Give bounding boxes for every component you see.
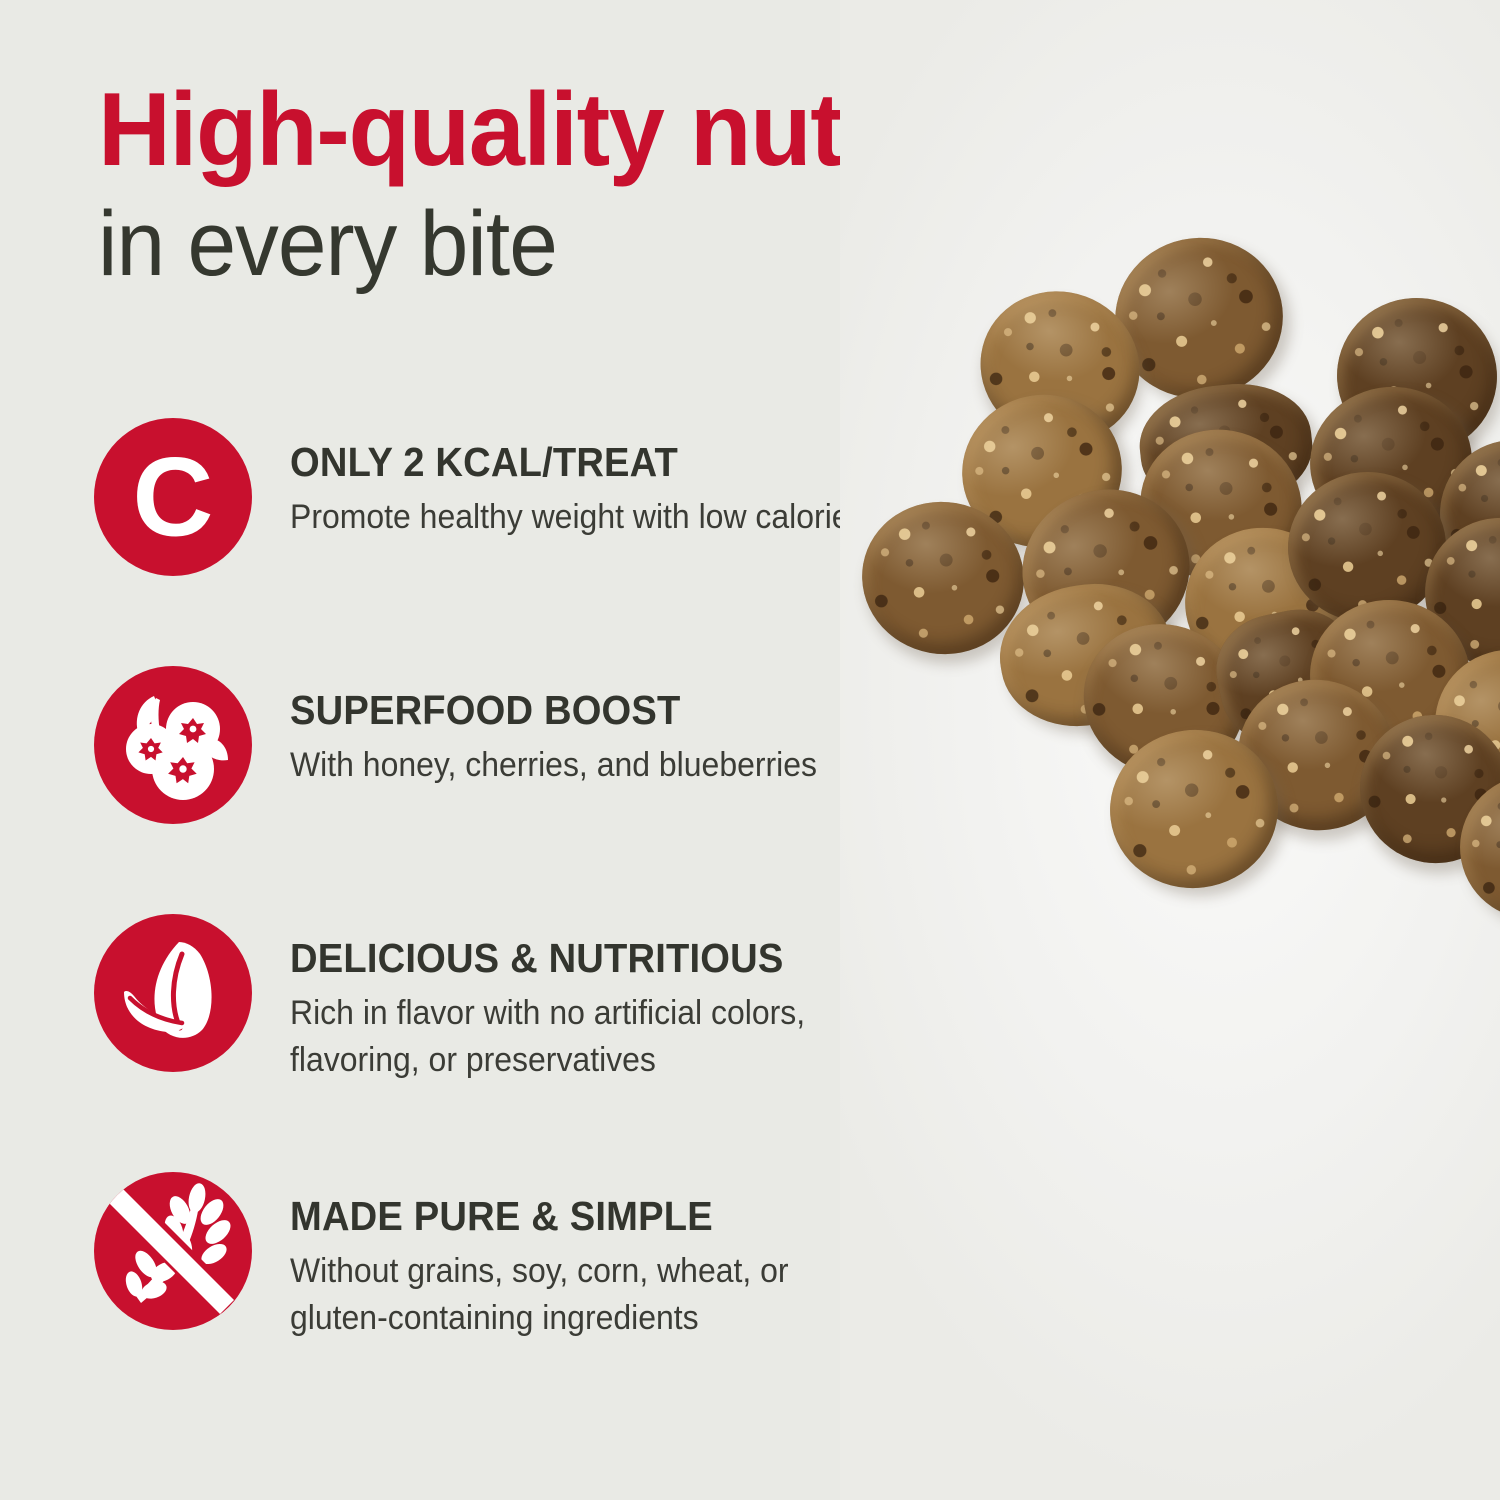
feature-description-line: flavoring, or preservatives bbox=[290, 1037, 886, 1084]
feature-description: Rich in flavor with no artificial colors… bbox=[290, 990, 886, 1084]
feature-title: DELICIOUS & NUTRITIOUS bbox=[290, 936, 880, 980]
svg-text:C: C bbox=[133, 435, 214, 560]
berries-icon bbox=[94, 666, 252, 824]
feature-description-line: Without grains, soy, corn, wheat, or bbox=[290, 1248, 886, 1295]
feature-description-line: Promote healthy weight with low calorie … bbox=[290, 494, 886, 541]
no-grain-icon bbox=[94, 1172, 252, 1330]
feature-description-line: Rich in flavor with no artificial colors… bbox=[290, 990, 886, 1037]
feature-list: C ONLY 2 KCAL/TREAT Promote healthy weig… bbox=[94, 418, 924, 1342]
calorie-c-icon: C bbox=[94, 418, 252, 576]
feature-description-line: With honey, cherries, and blueberries bbox=[290, 742, 886, 789]
product-photo bbox=[840, 0, 1500, 1500]
leaves-icon bbox=[94, 914, 252, 1072]
feature-item: C ONLY 2 KCAL/TREAT Promote healthy weig… bbox=[94, 418, 924, 578]
feature-title: SUPERFOOD BOOST bbox=[290, 688, 880, 732]
feature-description: Promote healthy weight with low calorie … bbox=[290, 494, 886, 541]
feature-description-line: gluten-containing ingredients bbox=[290, 1295, 886, 1342]
feature-item: DELICIOUS & NUTRITIOUS Rich in flavor wi… bbox=[94, 914, 924, 1084]
feature-description: Without grains, soy, corn, wheat, or glu… bbox=[290, 1248, 886, 1342]
feature-description: With honey, cherries, and blueberries bbox=[290, 742, 886, 789]
feature-item: MADE PURE & SIMPLE Without grains, soy, … bbox=[94, 1172, 924, 1342]
infographic-root: High-quality nutrition in every bite C O… bbox=[0, 0, 1500, 1500]
feature-title: MADE PURE & SIMPLE bbox=[290, 1194, 880, 1238]
feature-item: SUPERFOOD BOOST With honey, cherries, an… bbox=[94, 666, 924, 826]
feature-title: ONLY 2 KCAL/TREAT bbox=[290, 440, 880, 484]
